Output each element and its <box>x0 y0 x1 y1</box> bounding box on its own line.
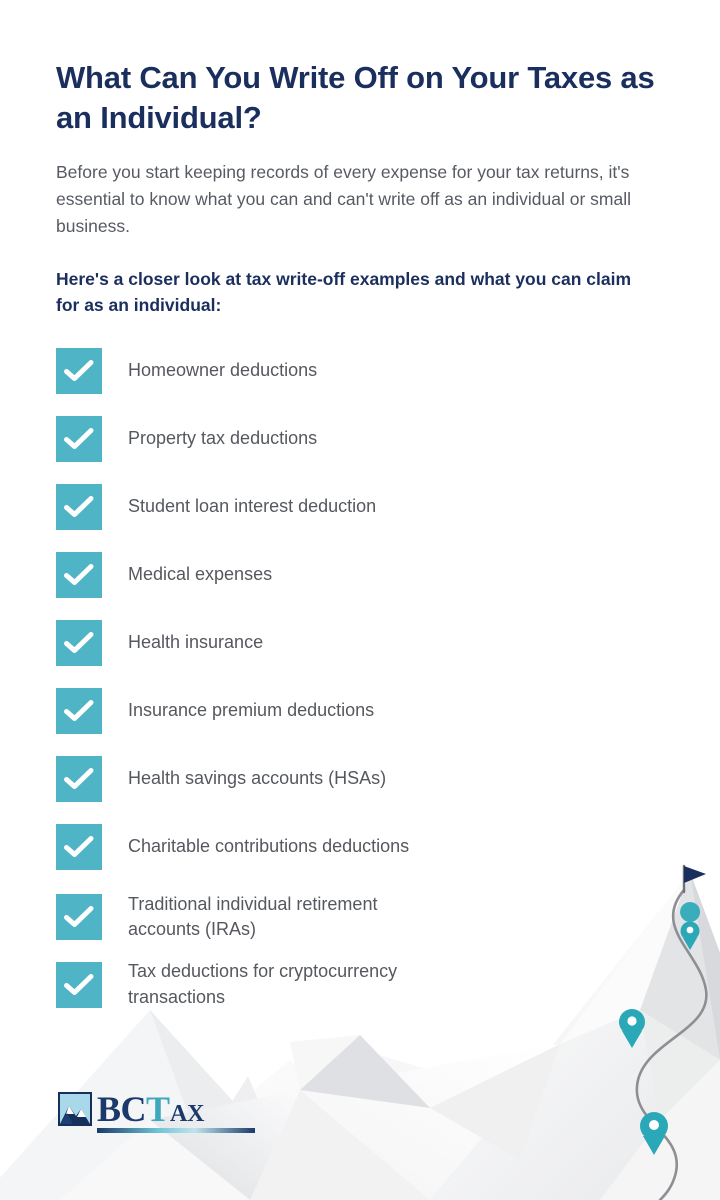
logo-text-ax: AX <box>170 1103 204 1126</box>
check-icon[interactable] <box>56 552 102 598</box>
check-icon[interactable] <box>56 620 102 666</box>
list-item-label: Property tax deductions <box>128 426 317 452</box>
list-item[interactable]: Health insurance <box>56 620 664 666</box>
map-pin-icon <box>640 1112 668 1155</box>
check-icon[interactable] <box>56 416 102 462</box>
check-icon[interactable] <box>56 824 102 870</box>
list-item[interactable]: Traditional individual retirement accoun… <box>56 892 664 943</box>
check-icon[interactable] <box>56 348 102 394</box>
check-icon[interactable] <box>56 962 102 1008</box>
list-item[interactable]: Insurance premium deductions <box>56 688 664 734</box>
list-item-label: Charitable contributions deductions <box>128 834 409 860</box>
bctax-logo[interactable]: BC T AX <box>58 1092 255 1133</box>
list-item[interactable]: Property tax deductions <box>56 416 664 462</box>
logo-text-bc: BC <box>97 1092 146 1126</box>
list-item-label: Homeowner deductions <box>128 358 317 384</box>
map-pin-icon <box>619 1009 645 1048</box>
list-item-label: Traditional individual retirement accoun… <box>128 892 428 943</box>
content-container: What Can You Write Off on Your Taxes as … <box>0 0 720 1010</box>
list-item[interactable]: Tax deductions for cryptocurrency transa… <box>56 959 664 1010</box>
list-item-label: Student loan interest deduction <box>128 494 376 520</box>
subheading: Here's a closer look at tax write-off ex… <box>56 267 636 318</box>
list-item[interactable]: Charitable contributions deductions <box>56 824 664 870</box>
check-icon[interactable] <box>56 894 102 940</box>
logo-underline <box>97 1128 255 1133</box>
list-item-label: Insurance premium deductions <box>128 698 374 724</box>
list-item[interactable]: Homeowner deductions <box>56 348 664 394</box>
list-item[interactable]: Medical expenses <box>56 552 664 598</box>
check-icon[interactable] <box>56 756 102 802</box>
check-icon[interactable] <box>56 484 102 530</box>
logo-text-t: T <box>146 1092 170 1126</box>
infographic-page: What Can You Write Off on Your Taxes as … <box>0 0 720 1200</box>
mountain-icon <box>58 1092 92 1126</box>
list-item-label: Health savings accounts (HSAs) <box>128 766 386 792</box>
check-icon[interactable] <box>56 688 102 734</box>
page-title: What Can You Write Off on Your Taxes as … <box>56 58 664 137</box>
list-item-label: Tax deductions for cryptocurrency transa… <box>128 959 438 1010</box>
list-item[interactable]: Health savings accounts (HSAs) <box>56 756 664 802</box>
tax-writeoff-checklist: Homeowner deductions Property tax deduct… <box>56 348 664 1010</box>
intro-paragraph: Before you start keeping records of ever… <box>56 159 641 239</box>
logo-wordmark: BC T AX <box>97 1092 255 1133</box>
list-item[interactable]: Student loan interest deduction <box>56 484 664 530</box>
list-item-label: Medical expenses <box>128 562 272 588</box>
list-item-label: Health insurance <box>128 630 263 656</box>
